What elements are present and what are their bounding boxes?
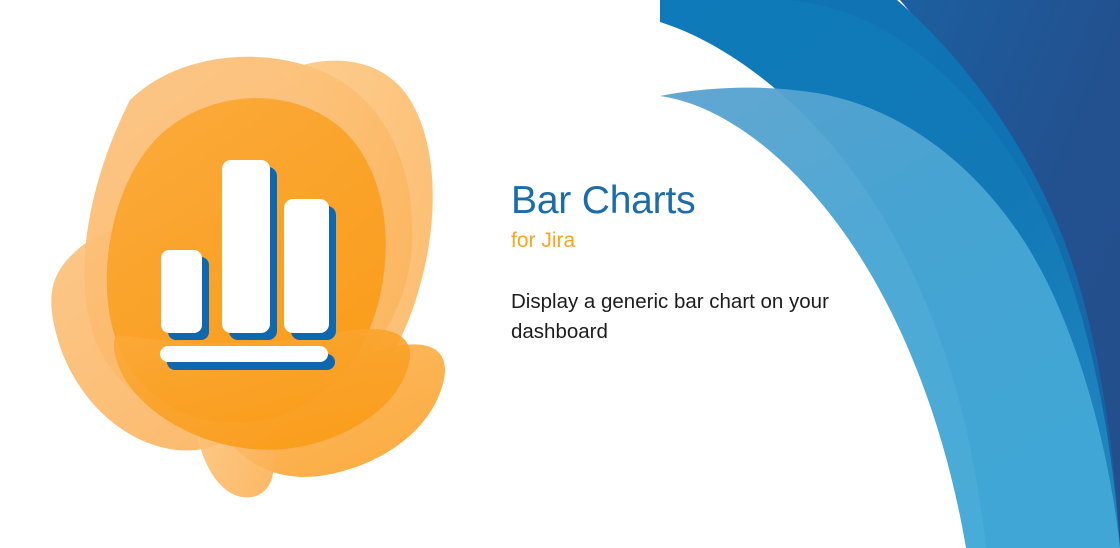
- wave-navy-shape: [900, 0, 1120, 548]
- product-subtitle: for Jira: [511, 228, 911, 254]
- product-banner: Bar Charts for Jira Display a generic ba…: [0, 0, 1120, 548]
- baseline: [160, 346, 328, 362]
- bar-1: [161, 250, 202, 333]
- bar-3: [284, 199, 329, 333]
- page-title: Bar Charts: [511, 178, 911, 224]
- bar-2: [222, 160, 270, 333]
- product-description: Display a generic bar chart on your dash…: [511, 287, 896, 347]
- product-text-block: Bar Charts for Jira Display a generic ba…: [511, 178, 911, 347]
- bar-chart-logo: [30, 45, 470, 515]
